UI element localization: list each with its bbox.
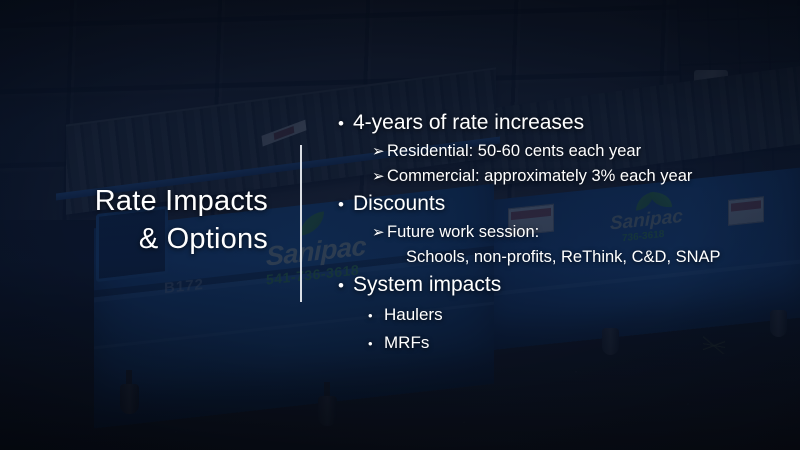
presentation-slide: Sanipac 736-3618 B172 Sanipac 541-736-36… [0, 0, 800, 450]
bullet-item: •4-years of rate increases [338, 108, 794, 139]
dot-bullet-icon: • [368, 330, 384, 357]
title-divider [300, 145, 302, 302]
bullet-item: ➢Future work session: [372, 220, 794, 245]
dot-bullet-icon: • [338, 271, 353, 301]
bullet-item: •System impacts [338, 270, 794, 301]
dot-bullet-icon: • [368, 302, 384, 329]
bullet-item: ➢Residential: 50-60 cents each year [372, 139, 794, 164]
bullet-text: Residential: 50-60 cents each year [387, 139, 794, 164]
slide-content: Rate Impacts & Options •4-years of rate … [0, 0, 800, 450]
bullet-item: Schools, non-profits, ReThink, C&D, SNAP [406, 245, 794, 270]
bullet-text: Commercial: approximately 3% each year [387, 164, 794, 189]
bullet-item: •MRFs [368, 329, 794, 357]
bullet-item: ➢Commercial: approximately 3% each year [372, 164, 794, 189]
arrow-bullet-icon: ➢ [372, 220, 387, 245]
bullet-item: •Discounts [338, 189, 794, 220]
slide-title: Rate Impacts & Options [28, 182, 268, 258]
arrow-bullet-icon: ➢ [372, 139, 387, 164]
arrow-bullet-icon: ➢ [372, 164, 387, 189]
dot-bullet-icon: • [338, 109, 353, 139]
bullet-list: •4-years of rate increases➢Residential: … [338, 108, 794, 357]
bullet-text: MRFs [384, 329, 794, 356]
bullet-item: •Haulers [368, 301, 794, 329]
bullet-text: System impacts [353, 270, 794, 300]
bullet-text: Haulers [384, 301, 794, 328]
bullet-text: Schools, non-profits, ReThink, C&D, SNAP [406, 245, 794, 270]
bullet-text: Future work session: [387, 220, 794, 245]
dot-bullet-icon: • [338, 190, 353, 220]
bullet-text: Discounts [353, 189, 794, 219]
bullet-text: 4-years of rate increases [353, 108, 794, 138]
